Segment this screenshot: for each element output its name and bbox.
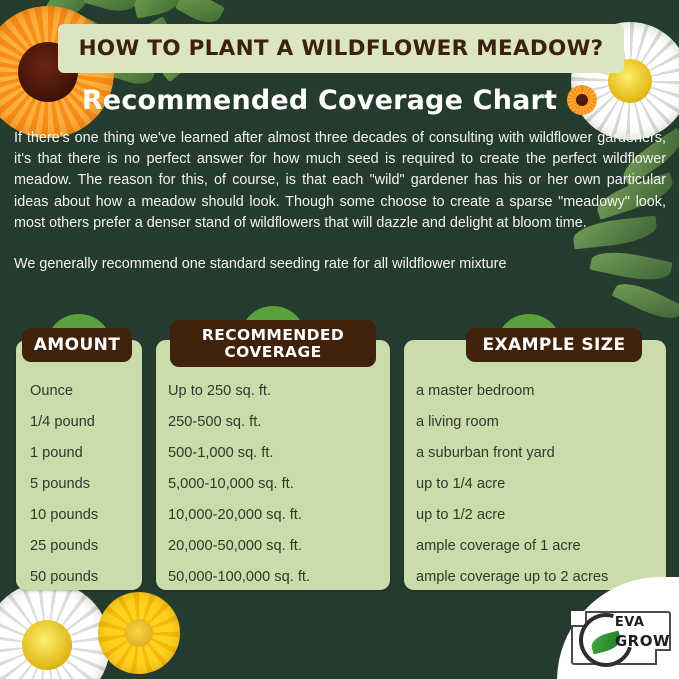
list-item: ample coverage up to 2 acres bbox=[416, 562, 608, 593]
list-item: 500-1,000 sq. ft. bbox=[168, 438, 310, 469]
column-header-coverage: RECOMMENDED COVERAGE bbox=[170, 320, 376, 367]
orange-flower-icon bbox=[567, 85, 597, 115]
green-leaf-icon bbox=[41, 0, 94, 24]
green-leaf-icon bbox=[83, 0, 141, 17]
flower-petals bbox=[0, 582, 110, 679]
list-item: 5 pounds bbox=[30, 469, 98, 500]
list-item: 50 pounds bbox=[30, 562, 98, 593]
list-item: a suburban front yard bbox=[416, 438, 608, 469]
page-subtitle: Recommended Coverage Chart bbox=[82, 85, 557, 116]
recommendation-note: We generally recommend one standard seed… bbox=[14, 254, 666, 275]
subtitle-row: Recommended Coverage Chart bbox=[0, 78, 679, 122]
flower-center bbox=[22, 620, 72, 670]
list-item: up to 1/4 acre bbox=[416, 469, 608, 500]
column-header-example: EXAMPLE SIZE bbox=[466, 328, 642, 362]
list-item: 1/4 pound bbox=[30, 407, 98, 438]
page-title: HOW TO PLANT A WILDFLOWER MEADOW? bbox=[79, 36, 604, 61]
list-item: 20,000-50,000 sq. ft. bbox=[168, 531, 310, 562]
title-banner: HOW TO PLANT A WILDFLOWER MEADOW? bbox=[58, 24, 624, 73]
logo-line-1: EVA bbox=[615, 616, 670, 629]
yellow-coreopsis-flower-icon bbox=[98, 592, 180, 674]
logo-line-2: GROW bbox=[615, 634, 670, 649]
list-item: 5,000-10,000 sq. ft. bbox=[168, 469, 310, 500]
infographic-canvas: HOW TO PLANT A WILDFLOWER MEADOW? Recomm… bbox=[0, 0, 679, 679]
logo-text: EVA GROW bbox=[615, 616, 670, 649]
list-item: Ounce bbox=[30, 376, 98, 407]
list-item: 1 pound bbox=[30, 438, 98, 469]
column-header-amount: AMOUNT bbox=[22, 328, 132, 362]
coverage-list: Up to 250 sq. ft. 250-500 sq. ft. 500-1,… bbox=[168, 376, 310, 593]
coverage-table: AMOUNT RECOMMENDED COVERAGE EXAMPLE SIZE… bbox=[0, 318, 679, 590]
list-item: 50,000-100,000 sq. ft. bbox=[168, 562, 310, 593]
list-item: 10 pounds bbox=[30, 500, 98, 531]
example-size-list: a master bedroom a living room a suburba… bbox=[416, 376, 608, 593]
list-item: Up to 250 sq. ft. bbox=[168, 376, 310, 407]
list-item: 250-500 sq. ft. bbox=[168, 407, 310, 438]
list-item: a living room bbox=[416, 407, 608, 438]
flower-center bbox=[125, 619, 153, 647]
list-item: 25 pounds bbox=[30, 531, 98, 562]
list-item: ample coverage of 1 acre bbox=[416, 531, 608, 562]
intro-paragraph: If there's one thing we've learned after… bbox=[14, 128, 666, 234]
flower-petals bbox=[98, 592, 180, 674]
list-item: up to 1/2 acre bbox=[416, 500, 608, 531]
white-daisy-flower-icon bbox=[0, 582, 110, 679]
list-item: 10,000-20,000 sq. ft. bbox=[168, 500, 310, 531]
amount-list: Ounce 1/4 pound 1 pound 5 pounds 10 poun… bbox=[30, 376, 98, 593]
eva-grow-logo: EVA GROW bbox=[569, 607, 673, 669]
green-leaf-icon bbox=[132, 0, 184, 19]
list-item: a master bedroom bbox=[416, 376, 608, 407]
body-copy: If there's one thing we've learned after… bbox=[14, 128, 666, 275]
